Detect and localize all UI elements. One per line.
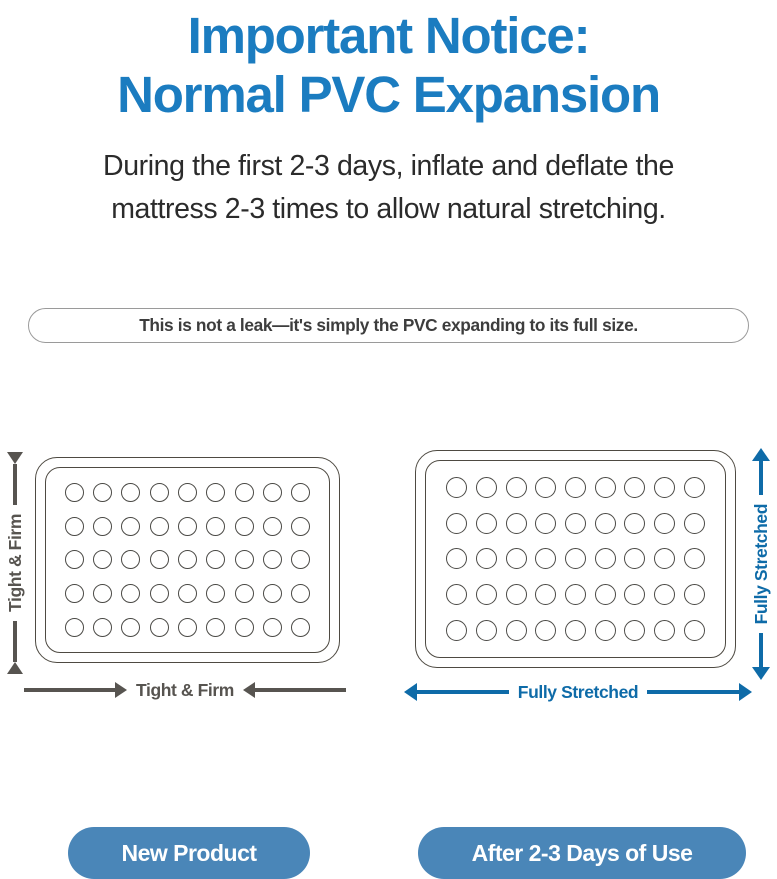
- mattress-dot: [150, 483, 169, 502]
- mattress-dot: [565, 620, 586, 641]
- mattress-dot: [263, 483, 282, 502]
- mattress-dot: [684, 513, 705, 534]
- mattress-dot: [565, 477, 586, 498]
- mattress-dot: [624, 584, 645, 605]
- mattress-dot: [65, 618, 84, 637]
- mattress-dot: [446, 548, 467, 569]
- caption-pill-after-use-label: After 2-3 Days of Use: [472, 840, 693, 867]
- mattress-dot: [121, 618, 140, 637]
- caption-pill-new-product-label: New Product: [121, 840, 256, 867]
- mattress-dot: [595, 477, 616, 498]
- mattress-dot: [263, 584, 282, 603]
- mattress-dot: [446, 584, 467, 605]
- mattress-dot: [235, 584, 254, 603]
- mattress-dot: [476, 513, 497, 534]
- width-label-stretched: Fully Stretched: [509, 682, 647, 703]
- mattress-diagram-new: [35, 457, 340, 663]
- notice-callout-box: This is not a leak—it's simply the PVC e…: [28, 308, 749, 343]
- mattress-dot: [93, 584, 112, 603]
- mattress-dot: [595, 548, 616, 569]
- mattress-dot: [506, 548, 527, 569]
- mattress-dot: [476, 584, 497, 605]
- mattress-dot: [121, 584, 140, 603]
- mattress-diagram-stretched: [415, 450, 736, 668]
- mattress-dot: [535, 584, 556, 605]
- mattress-dot: [291, 483, 310, 502]
- mattress-dot: [506, 620, 527, 641]
- mattress-dot: [65, 550, 84, 569]
- mattress-dot: [235, 550, 254, 569]
- width-arrow-label-new: Tight & Firm: [24, 678, 346, 702]
- mattress-dot: [178, 483, 197, 502]
- mattress-dot: [476, 548, 497, 569]
- mattress-dot: [65, 517, 84, 536]
- mattress-dot: [624, 513, 645, 534]
- mattress-dot: [476, 620, 497, 641]
- mattress-dot: [446, 620, 467, 641]
- arrow-head-left-new-icon: [243, 682, 255, 698]
- arrow-head-right-stretched-icon: [739, 683, 752, 701]
- mattress-dot: [624, 477, 645, 498]
- arrow-head-left-stretched-icon: [404, 683, 417, 701]
- mattress-dot: [93, 550, 112, 569]
- height-label-new: Tight & Firm: [5, 505, 26, 621]
- mattress-dot: [150, 618, 169, 637]
- mattress-dot: [654, 584, 675, 605]
- mattress-dot: [150, 584, 169, 603]
- mattress-dot: [291, 517, 310, 536]
- arrow-head-right-new-icon: [115, 682, 127, 698]
- mattress-dot: [178, 517, 197, 536]
- mattress-dot: [65, 584, 84, 603]
- mattress-dot: [65, 483, 84, 502]
- mattress-dot-grid-new: [60, 476, 315, 644]
- mattress-dot: [235, 618, 254, 637]
- arrow-head-up-stretched-icon: [752, 448, 770, 461]
- mattress-dot: [178, 550, 197, 569]
- width-arrow-label-stretched: Fully Stretched: [404, 680, 752, 704]
- mattress-dot: [93, 618, 112, 637]
- mattress-dot: [654, 620, 675, 641]
- mattress-dot: [624, 548, 645, 569]
- mattress-dot: [595, 513, 616, 534]
- mattress-dot: [535, 477, 556, 498]
- arrow-shaft-bottom-stretched: [759, 633, 763, 667]
- arrow-shaft-top-stretched: [759, 461, 763, 495]
- mattress-dot: [178, 584, 197, 603]
- mattress-dot: [684, 548, 705, 569]
- mattress-dot: [206, 517, 225, 536]
- mattress-dot: [121, 550, 140, 569]
- mattress-dot: [506, 513, 527, 534]
- caption-pill-after-use[interactable]: After 2-3 Days of Use: [418, 827, 746, 879]
- mattress-dot: [263, 618, 282, 637]
- height-label-stretched: Fully Stretched: [751, 495, 772, 633]
- mattress-dot: [624, 620, 645, 641]
- mattress-dot: [263, 517, 282, 536]
- mattress-dot: [206, 550, 225, 569]
- arrow-head-down-new-icon: [7, 452, 23, 464]
- mattress-dot: [446, 513, 467, 534]
- mattress-dot: [595, 620, 616, 641]
- mattress-dot: [206, 584, 225, 603]
- mattress-dot: [150, 550, 169, 569]
- mattress-dot: [535, 620, 556, 641]
- arrow-head-up-new-icon: [7, 662, 23, 674]
- mattress-dot: [595, 584, 616, 605]
- mattress-dot: [235, 483, 254, 502]
- width-label-new: Tight & Firm: [127, 680, 243, 701]
- mattress-dot: [93, 517, 112, 536]
- mattress-dot: [291, 618, 310, 637]
- mattress-dot: [535, 548, 556, 569]
- arrow-head-down-stretched-icon: [752, 667, 770, 680]
- mattress-dot: [291, 584, 310, 603]
- mattress-dot: [235, 517, 254, 536]
- arrow-shaft-right-stretched: [647, 690, 739, 694]
- mattress-dot: [565, 584, 586, 605]
- mattress-dot: [565, 513, 586, 534]
- mattress-dot: [565, 548, 586, 569]
- page-title: Important Notice: Normal PVC Expansion: [0, 6, 777, 124]
- mattress-dot: [121, 517, 140, 536]
- arrow-shaft-right-new: [255, 688, 346, 692]
- mattress-dot: [291, 550, 310, 569]
- mattress-dot: [476, 477, 497, 498]
- page-subtitle: During the first 2-3 days, inflate and d…: [24, 145, 753, 231]
- notice-callout-text: This is not a leak—it's simply the PVC e…: [139, 315, 638, 336]
- mattress-dot-grid-stretched: [442, 470, 709, 648]
- height-arrow-label-stretched: Fully Stretched: [748, 448, 774, 680]
- mattress-dot: [654, 548, 675, 569]
- arrow-shaft-bottom-new: [13, 621, 17, 662]
- mattress-dot: [684, 620, 705, 641]
- mattress-dot: [150, 517, 169, 536]
- mattress-dot: [446, 477, 467, 498]
- mattress-dot: [654, 513, 675, 534]
- mattress-dot: [206, 618, 225, 637]
- mattress-dot: [506, 584, 527, 605]
- arrow-shaft-top-new: [13, 464, 17, 505]
- mattress-dot: [121, 483, 140, 502]
- mattress-dot: [654, 477, 675, 498]
- caption-pill-new-product[interactable]: New Product: [68, 827, 310, 879]
- mattress-dot: [93, 483, 112, 502]
- mattress-dot: [263, 550, 282, 569]
- mattress-dot: [206, 483, 225, 502]
- mattress-dot: [178, 618, 197, 637]
- mattress-dot: [506, 477, 527, 498]
- mattress-dot: [535, 513, 556, 534]
- mattress-dot: [684, 584, 705, 605]
- mattress-dot: [684, 477, 705, 498]
- height-arrow-label-new: Tight & Firm: [2, 452, 28, 674]
- arrow-shaft-left-stretched: [417, 690, 509, 694]
- arrow-shaft-left-new: [24, 688, 115, 692]
